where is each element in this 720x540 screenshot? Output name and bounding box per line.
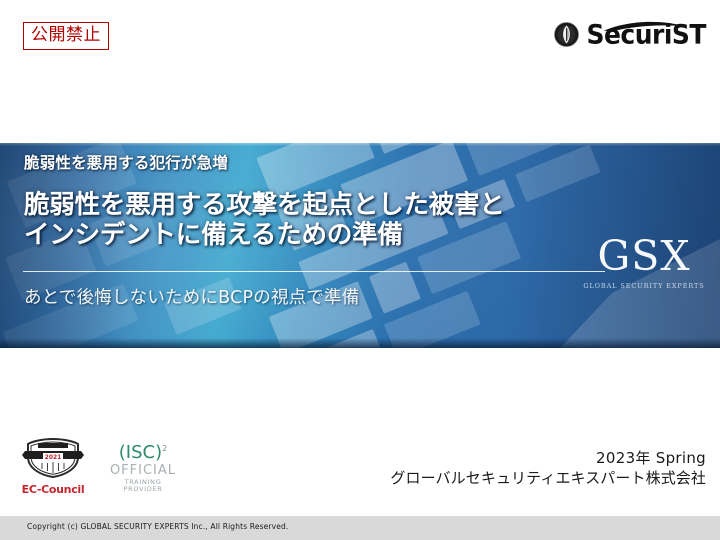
partner-logos: 2021 EC-Council (ISC)2 OFFICIAL TRAINING… [16, 438, 182, 495]
ec-council-logo: 2021 EC-Council [16, 438, 90, 495]
hero-headline: 脆弱性を悪用する攻撃を起点とした被害と インシデントに備えるための準備 [24, 190, 505, 250]
securist-brand-lockup: SecuriST [554, 22, 706, 47]
footer-bar: Copyright (c) GLOBAL SECURITY EXPERTS In… [0, 516, 720, 540]
isc2-training-provider-label: TRAINING PROVIDER [104, 479, 182, 492]
hero-content: 脆弱性を悪用する犯行が急増 脆弱性を悪用する攻撃を起点とした被害と インシデント… [20, 143, 710, 348]
shield-award-icon: 2021 [16, 438, 90, 483]
hero-kicker: 脆弱性を悪用する犯行が急増 [24, 151, 228, 173]
securist-wordmark-text: SecuriST [586, 19, 706, 49]
hero-tagline: あとで後悔しないためにBCPの視点で準備 [24, 284, 359, 309]
slide-meta: 2023年 Spring グローバルセキュリティエキスパート株式会社 [390, 448, 706, 489]
securist-wordmark: SecuriST [586, 21, 706, 47]
hero-divider [23, 271, 605, 272]
gsx-logo-lockup: GSX GLOBAL SECURITY EXPERTS [578, 236, 710, 290]
gsx-wordmark: GSX [578, 236, 710, 277]
copyright-text: Copyright (c) GLOBAL SECURITY EXPERTS In… [27, 522, 288, 531]
ec-council-name: EC-Council [16, 484, 90, 495]
isc2-mark-superscript: 2 [162, 444, 167, 453]
hero-banner: 脆弱性を悪用する犯行が急増 脆弱性を悪用する攻撃を起点とした被害と インシデント… [0, 143, 720, 348]
isc2-mark-text: (ISC) [119, 442, 162, 463]
gsx-tagline: GLOBAL SECURITY EXPERTS [578, 282, 710, 290]
confidential-stamp: 公開禁止 [23, 22, 109, 50]
svg-text:2021: 2021 [45, 454, 62, 461]
slide-canvas: 公開禁止 SecuriST [0, 0, 720, 540]
shield-circle-icon [554, 22, 579, 47]
isc2-logo: (ISC)2 OFFICIAL TRAINING PROVIDER [104, 444, 182, 495]
company-name: グローバルセキュリティエキスパート株式会社 [390, 468, 706, 488]
isc2-mark: (ISC)2 [104, 444, 182, 462]
season-label: 2023年 Spring [390, 448, 706, 468]
isc2-official-label: OFFICIAL [104, 464, 182, 477]
